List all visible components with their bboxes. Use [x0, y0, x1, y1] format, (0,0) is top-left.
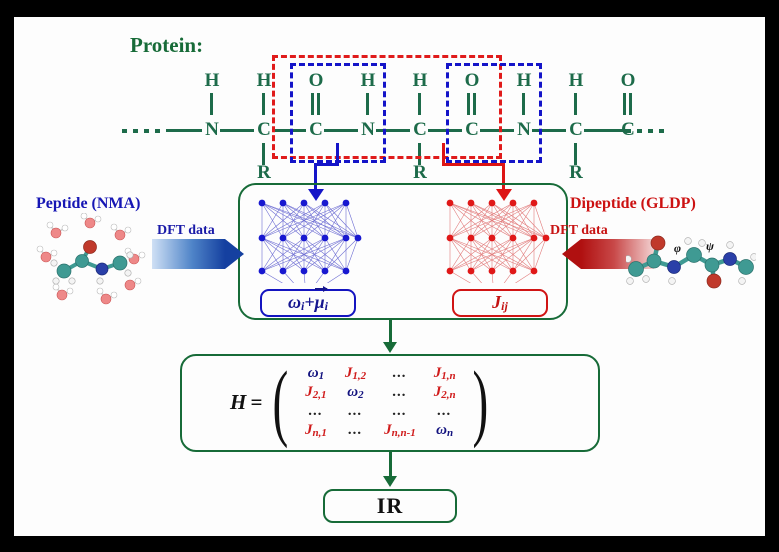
matrix-cell: ... — [375, 402, 425, 421]
matrix-cell: J1,n — [425, 364, 465, 383]
matrix-row: Jn,1 ... Jn,n-1 ωn — [296, 421, 465, 440]
arrow-matrix-to-ir-head — [383, 476, 397, 487]
atom-O: O — [617, 71, 639, 90]
nma-molecule-image — [34, 213, 152, 309]
matrix-cell: ... — [425, 402, 465, 421]
bond-double — [623, 93, 626, 115]
chain-left-terminus — [122, 129, 166, 133]
figure-canvas: Protein: N H C H R — [14, 17, 765, 536]
J-symbol: J — [492, 292, 501, 312]
matrix-equals: = — [250, 390, 262, 415]
atom-R: R — [253, 163, 275, 182]
atom-N: N — [201, 120, 223, 139]
left-network-output-box: ωi+μi — [260, 289, 356, 317]
right-network-output-box: Jij — [452, 289, 548, 317]
ir-label: IR — [377, 493, 403, 519]
atom-R: R — [565, 163, 587, 182]
psi-angle-label: ψ — [706, 239, 714, 254]
left-dft-label: DFT data — [157, 223, 215, 239]
hamiltonian-matrix-box: H = ( ω1 J1,2 ... J1,n J2,1 ω2 — [180, 354, 600, 452]
mu-vector-symbol: μ — [315, 292, 325, 313]
phi-angle-label: φ — [674, 241, 681, 256]
bond-v — [262, 93, 265, 115]
matrix-right-paren: ) — [472, 371, 488, 433]
protein-title: Protein: — [130, 33, 203, 58]
matrix-symbol-H: H — [230, 390, 246, 415]
matrix-cell: ω2 — [336, 383, 375, 402]
right-molecule-label: Dipeptide (GLDP) — [570, 195, 696, 213]
arrow-network-to-matrix-line — [389, 320, 392, 344]
atom-H: H — [565, 71, 587, 90]
matrix-cell: ... — [336, 402, 375, 421]
omega-symbol: ω — [288, 292, 301, 312]
matrix-cell: Jn,1 — [296, 421, 336, 440]
figure-root: Protein: N H C H R — [0, 0, 779, 552]
matrix-cell: ... — [296, 402, 336, 421]
atom-C: C — [565, 120, 587, 139]
left-neural-network — [250, 193, 370, 283]
atom-H: H — [201, 71, 223, 90]
matrix-cell: J2,n — [425, 383, 465, 402]
plus-symbol: + — [304, 292, 314, 312]
matrix-cell: J2,1 — [296, 383, 336, 402]
matrix-row: ω1 J1,2 ... J1,n — [296, 364, 465, 383]
right-neural-network — [438, 193, 558, 283]
matrix-row: J2,1 ω2 ... J2,n — [296, 383, 465, 402]
J-subscript: ij — [501, 299, 508, 313]
atom-R: R — [409, 163, 431, 182]
ir-output-box: IR — [323, 489, 457, 523]
matrix-row: ... ... ... ... — [296, 402, 465, 421]
bond-v — [574, 93, 577, 115]
matrix-cell: J1,2 — [336, 364, 375, 383]
matrix-cell: ω1 — [296, 364, 336, 383]
right-dft-label: DFT data — [550, 223, 608, 239]
bond-h — [166, 129, 202, 132]
mu-subscript: i — [325, 299, 328, 313]
matrix-cell: ... — [375, 383, 425, 402]
bond-v — [210, 93, 213, 115]
matrix-table: ω1 J1,2 ... J1,n J2,1 ω2 ... J2,n .. — [296, 364, 465, 440]
arrow-network-to-matrix-head — [383, 342, 397, 353]
matrix-cell: ... — [336, 421, 375, 440]
hamiltonian-expression: H = ( ω1 J1,2 ... J1,n J2,1 ω2 — [230, 364, 494, 440]
bond-h — [220, 129, 254, 132]
left-dft-arrow — [152, 239, 244, 269]
matrix-cell: ... — [375, 364, 425, 383]
left-molecule-label: Peptide (NMA) — [36, 195, 140, 213]
matrix-left-paren: ( — [273, 371, 289, 433]
bond-double — [629, 93, 632, 115]
atom-C: C — [617, 120, 639, 139]
matrix-cell: ωn — [425, 421, 465, 440]
dashed-box-blue-amide-2 — [446, 63, 542, 163]
matrix-cell: Jn,n-1 — [375, 421, 425, 440]
gldp-molecule-image — [626, 223, 756, 299]
arrow-matrix-to-ir-line — [389, 452, 392, 478]
